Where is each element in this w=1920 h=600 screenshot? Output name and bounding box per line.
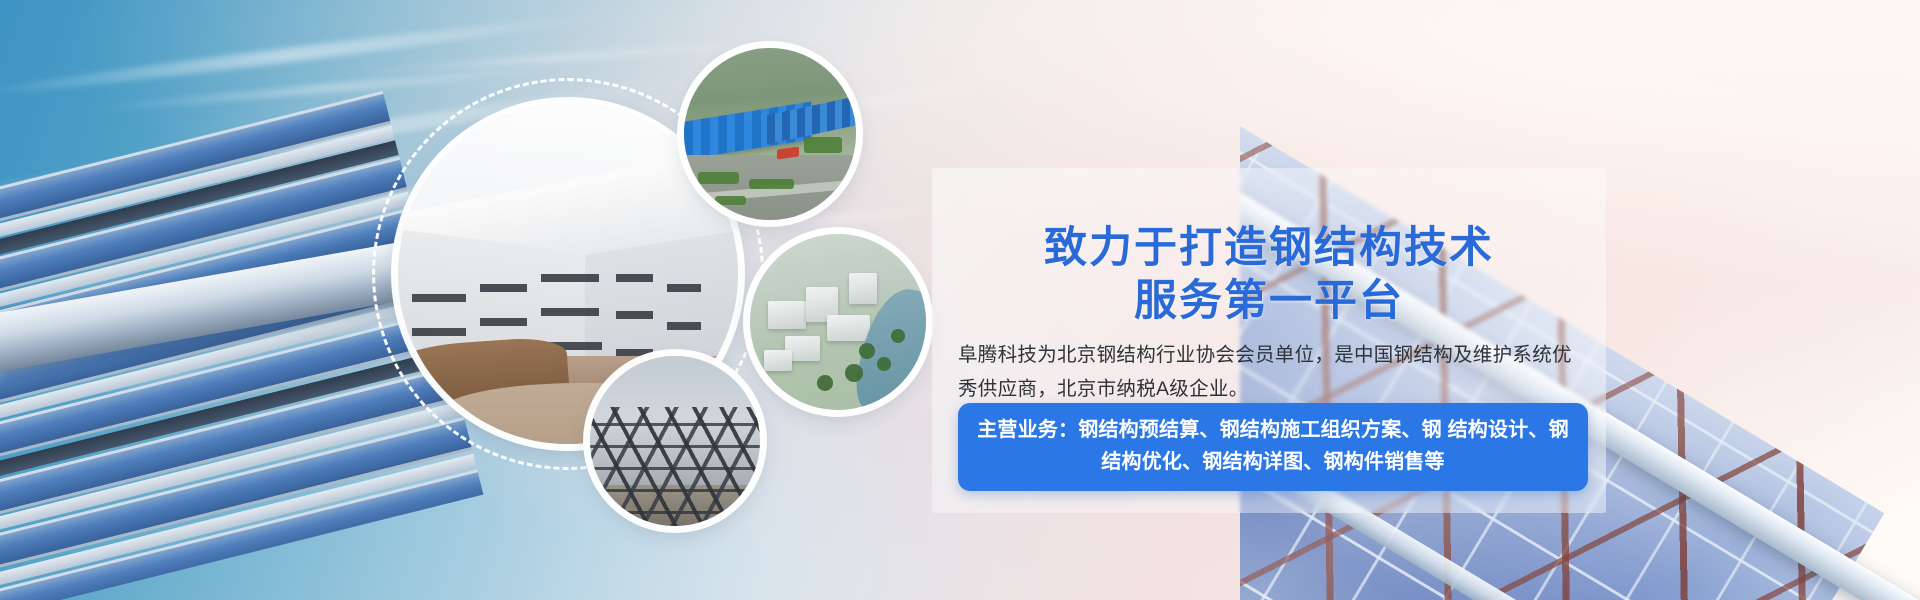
headline-line-2: 服务第一平台	[932, 275, 1606, 328]
steel-space-frame-truss-photo	[590, 356, 760, 526]
headline-line-1: 致力于打造钢结构技术	[1044, 223, 1494, 273]
blue-roof-factory-aerial-photo	[684, 48, 856, 220]
image-collage	[372, 38, 932, 558]
banner-copy: 致力于打造钢结构技术 服务第一平台 阜腾科技为北京钢结构行业协会会员单位，是中国…	[932, 168, 1606, 513]
services-badge-line-1: 主营业务：钢结构预结算、钢结构施工组织方案、钢	[977, 419, 1442, 441]
page-title: 致力于打造钢结构技术 服务第一平台	[932, 222, 1606, 328]
industrial-park-aerial-photo	[750, 234, 926, 410]
company-description: 阜腾科技为北京钢结构行业协会会员单位，是中国钢结构及维护系统优秀供应商，北京市纳…	[958, 338, 1588, 406]
hero-banner: 致力于打造钢结构技术 服务第一平台 阜腾科技为北京钢结构行业协会会员单位，是中国…	[0, 0, 1920, 600]
services-badge: 主营业务：钢结构预结算、钢结构施工组织方案、钢 结构设计、钢结构优化、钢结构详图…	[958, 403, 1588, 491]
